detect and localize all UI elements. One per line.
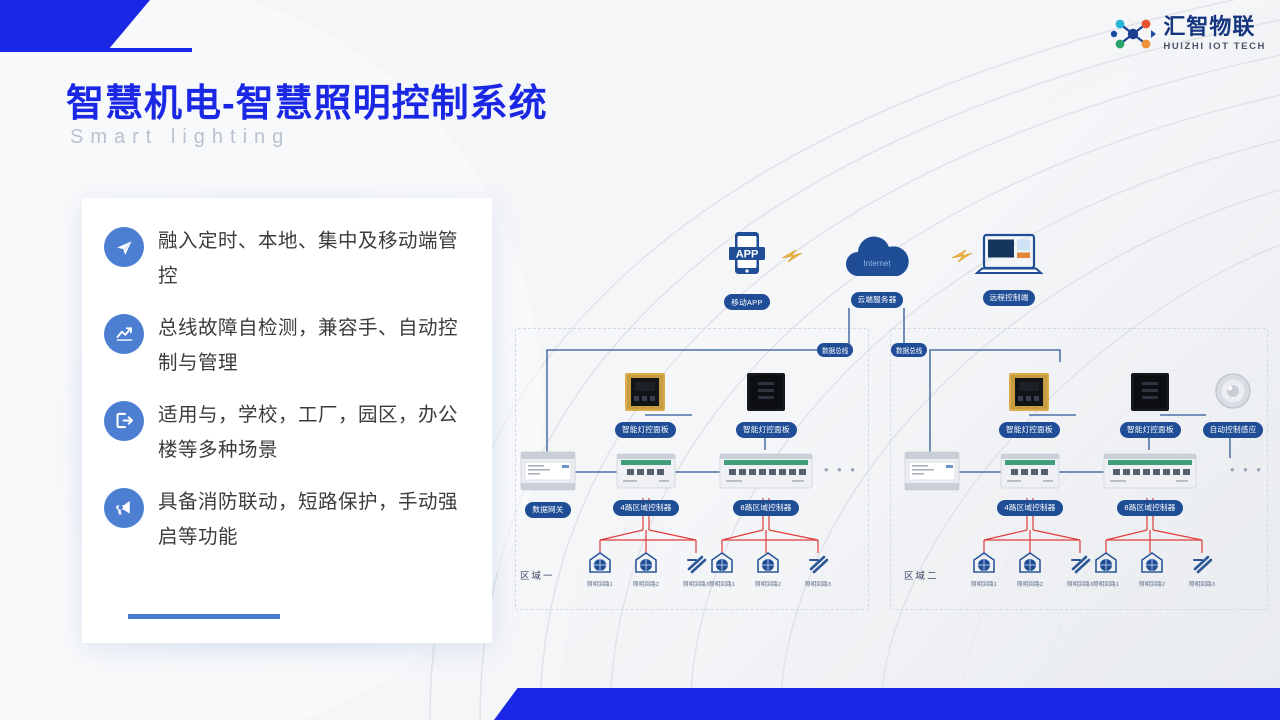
zone-1-circuit-2[interactable]: 照明回路2 — [624, 551, 668, 588]
zone-2-name: 区域二 — [904, 568, 939, 582]
node-label: 4路区域控制器 — [997, 500, 1062, 516]
laptop-icon — [973, 230, 1045, 282]
brand-logo: 汇智物联 HUIZHI IOT TECH — [1110, 14, 1266, 54]
zone-1-more-indicator: • • • — [824, 462, 857, 477]
circuit-label: 照明回路2 — [1130, 580, 1174, 588]
paper-plane-icon — [104, 227, 144, 267]
gateway-device-icon — [903, 448, 961, 494]
list-item[interactable]: 具备消防联动，短路保护，手动强启等功能 — [104, 485, 470, 556]
circuit-label: 照明回路3 — [796, 580, 840, 588]
zone-2-panel-gold[interactable]: 智能灯控面板 — [999, 372, 1059, 438]
list-item[interactable]: 总线故障自检测，兼容手、自动控制与管理 — [104, 311, 470, 382]
card-accent-underline — [128, 614, 280, 619]
black-wall-panel-icon — [1128, 372, 1172, 414]
smartphone-app-icon: APP — [724, 230, 770, 286]
ceiling-light-icon — [1093, 551, 1119, 575]
round-sensor-icon — [1212, 372, 1254, 414]
node-label: 8路区域控制器 — [733, 500, 798, 516]
circuit-label: 照明回路3 — [1180, 580, 1224, 588]
node-label: 8路区域控制器 — [1117, 500, 1182, 516]
zone-2-circuit-5[interactable]: 照明回路2 — [1130, 551, 1174, 588]
node-cloud-server[interactable]: Internet 云端服务器 — [838, 232, 916, 308]
zone-1-circuit-1[interactable]: 照明回路1 — [578, 551, 622, 588]
zone-2-sensor[interactable]: 自动控制感应 — [1202, 372, 1264, 438]
zone-1-circuit-4[interactable]: 照明回路1 — [700, 551, 744, 588]
din-rail-controller-8ch-icon — [718, 450, 814, 492]
list-item-label: 具备消防联动，短路保护，手动强启等功能 — [158, 485, 470, 556]
ceiling-light-icon — [633, 551, 659, 575]
node-label: 远程控制端 — [983, 290, 1036, 306]
list-item[interactable]: 融入定时、本地、集中及移动端管控 — [104, 224, 470, 295]
zone-1-panel-gold[interactable]: 智能灯控面板 — [615, 372, 675, 438]
feature-card: 融入定时、本地、集中及移动端管控 总线故障自检测，兼容手、自动控制与管理 — [82, 198, 492, 643]
zone-2-circuit-4[interactable]: 照明回路1 — [1084, 551, 1128, 588]
zone-2-circuit-2[interactable]: 照明回路2 — [1008, 551, 1052, 588]
chart-trend-icon — [104, 314, 144, 354]
gold-wall-panel-icon — [1007, 372, 1051, 414]
node-label: 智能灯控面板 — [1120, 422, 1181, 438]
node-label: 自动控制感应 — [1203, 422, 1264, 438]
logo-chinese-name: 汇智物联 — [1163, 16, 1266, 38]
ceiling-light-icon — [755, 551, 781, 575]
megaphone-icon — [104, 488, 144, 528]
zone-2-gateway[interactable]: 数据网关 — [900, 448, 964, 518]
fluorescent-tube-icon — [1189, 551, 1215, 575]
zone-2-circuit-1[interactable]: 照明回路1 — [962, 551, 1006, 588]
gateway-device-icon — [519, 448, 577, 494]
list-item-label: 适用与，学校，工厂，园区，办公楼等多种场景 — [158, 398, 470, 469]
bus-label-1: 数据总线 — [817, 343, 853, 357]
node-label: 云端服务器 — [851, 292, 904, 308]
gold-wall-panel-icon — [623, 372, 667, 414]
zone-2-controller-4ch[interactable]: 4路区域控制器 — [996, 450, 1064, 516]
zone-1-controller-4ch[interactable]: 4路区域控制器 — [612, 450, 680, 516]
circuit-label: 照明回路1 — [1084, 580, 1128, 588]
cloud-badge-text: Internet — [863, 259, 891, 268]
zone-1-circuit-6[interactable]: 照明回路3 — [796, 551, 840, 588]
din-rail-controller-4ch-icon — [615, 450, 677, 492]
circuit-label: 照明回路2 — [624, 580, 668, 588]
node-label: 智能灯控面板 — [615, 422, 676, 438]
zone-2-more-indicator: • • • — [1230, 462, 1263, 477]
bottom-right-accent-bar — [494, 688, 1280, 720]
list-item-label: 融入定时、本地、集中及移动端管控 — [158, 224, 470, 295]
fluorescent-tube-icon — [805, 551, 831, 575]
node-label: 智能灯控面板 — [999, 422, 1060, 438]
system-architecture-diagram: APP 移动APP Internet 云端服务器 远程控制端 数据总线 数据总线 — [500, 210, 1280, 620]
ceiling-light-icon — [971, 551, 997, 575]
zone-1-name: 区域一 — [520, 568, 555, 582]
ceiling-light-icon — [1017, 551, 1043, 575]
circuit-label: 照明回路1 — [962, 580, 1006, 588]
ceiling-light-icon — [1139, 551, 1165, 575]
ceiling-light-icon — [709, 551, 735, 575]
top-left-accent-underline — [0, 48, 192, 52]
exit-arrow-icon — [104, 401, 144, 441]
molecule-nodes-icon — [1110, 14, 1156, 54]
circuit-label: 照明回路2 — [1008, 580, 1052, 588]
circuit-label: 照明回路1 — [578, 580, 622, 588]
zone-1-panel-black[interactable]: 智能灯控面板 — [736, 372, 796, 438]
din-rail-controller-4ch-icon — [999, 450, 1061, 492]
zone-1-controller-8ch[interactable]: 8路区域控制器 — [716, 450, 816, 516]
page-subtitle: Smart lighting — [70, 126, 290, 149]
circuit-label: 照明回路1 — [700, 580, 744, 588]
zone-1-circuit-5[interactable]: 照明回路2 — [746, 551, 790, 588]
page-title: 智慧机电-智慧照明控制系统 — [66, 72, 548, 127]
node-mobile-app[interactable]: APP 移动APP — [712, 230, 782, 310]
list-item[interactable]: 适用与，学校，工厂，园区，办公楼等多种场景 — [104, 398, 470, 469]
cloud-icon: Internet — [838, 232, 916, 284]
node-remote-terminal[interactable]: 远程控制端 — [968, 230, 1050, 306]
black-wall-panel-icon — [744, 372, 788, 414]
list-item-label: 总线故障自检测，兼容手、自动控制与管理 — [158, 311, 470, 382]
node-label: 数据网关 — [525, 502, 570, 518]
circuit-label: 照明回路2 — [746, 580, 790, 588]
zone-2-controller-8ch[interactable]: 8路区域控制器 — [1100, 450, 1200, 516]
zone-1-gateway[interactable]: 数据网关 — [516, 448, 580, 518]
din-rail-controller-8ch-icon — [1102, 450, 1198, 492]
node-label: 智能灯控面板 — [736, 422, 797, 438]
ceiling-light-icon — [587, 551, 613, 575]
zone-2-panel-black[interactable]: 智能灯控面板 — [1120, 372, 1180, 438]
node-label: 移动APP — [724, 294, 769, 310]
node-label: 4路区域控制器 — [613, 500, 678, 516]
svg-text:APP: APP — [736, 248, 759, 260]
bus-label-2: 数据总线 — [891, 343, 927, 357]
feature-list: 融入定时、本地、集中及移动端管控 总线故障自检测，兼容手、自动控制与管理 — [82, 198, 492, 556]
zone-2-circuit-6[interactable]: 照明回路3 — [1180, 551, 1224, 588]
logo-english-name: HUIZHI IOT TECH — [1163, 42, 1266, 52]
